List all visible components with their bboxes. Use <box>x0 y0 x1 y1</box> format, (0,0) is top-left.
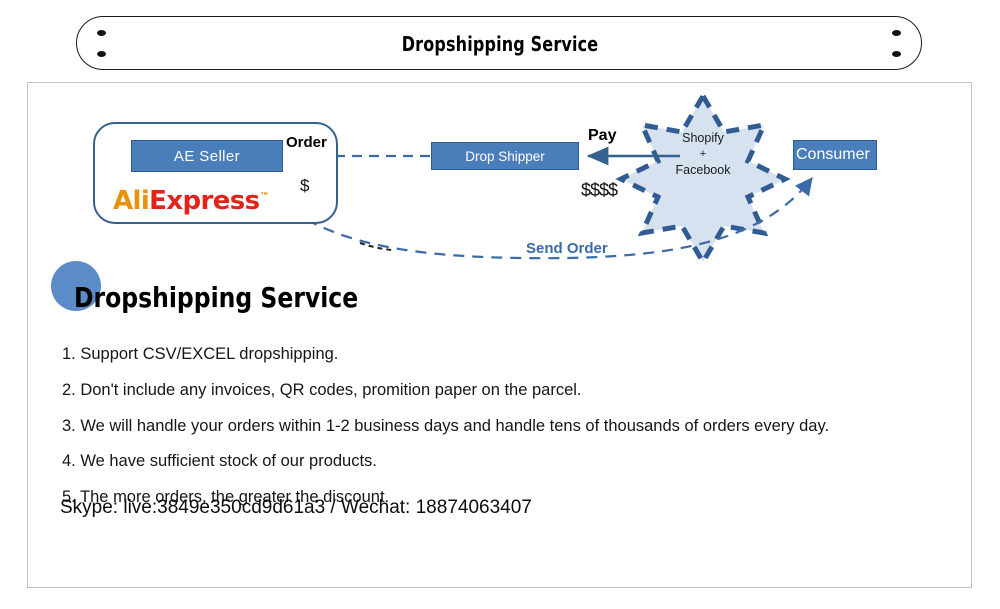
send-order-label: Send Order <box>526 240 608 257</box>
page-root: Dropshipping Service <box>0 0 1000 609</box>
banner-plate: Dropshipping Service <box>76 16 922 70</box>
rivet-icon-bottom-left <box>97 51 106 57</box>
star-label-group: Shopify + Facebook <box>660 130 746 179</box>
list-item: 3. We will handle your orders within 1-2… <box>62 416 962 438</box>
consumer-label: Consumer <box>796 146 870 164</box>
dollars-label: $$$$ <box>581 180 617 201</box>
pay-label: Pay <box>588 127 616 145</box>
list-item: 2. Don't include any invoices, QR codes,… <box>62 380 962 402</box>
drop-shipper-box[interactable]: Drop Shipper <box>431 142 579 170</box>
rivet-icon-top-left <box>97 30 106 36</box>
consumer-box[interactable]: Consumer <box>793 140 877 170</box>
ae-seller-box[interactable]: AE Seller <box>131 140 283 172</box>
contact-line: Skype: live:3849e350cd9d61a3 / Wechat: 1… <box>60 497 532 519</box>
plus-icon: + <box>660 147 746 162</box>
trademark-icon: ™ <box>260 191 269 202</box>
shopify-label: Shopify <box>660 130 746 147</box>
order-label: Order <box>286 134 327 151</box>
rivet-icon-top-right <box>892 30 901 36</box>
facebook-label: Facebook <box>660 162 746 179</box>
brand-ali-text: Ali <box>113 186 149 216</box>
list-item: 1. Support CSV/EXCEL dropshipping. <box>62 344 962 366</box>
rivet-icon-bottom-right <box>892 51 901 57</box>
banner-title: Dropshipping Service <box>162 17 839 71</box>
aliexpress-logo: AliExpress™ <box>113 186 269 216</box>
section-heading: Dropshipping Service <box>74 281 358 314</box>
list-item: 4. We have sufficient stock of our produ… <box>62 451 962 473</box>
drop-shipper-label: Drop Shipper <box>465 149 545 164</box>
dollar-label: $ <box>300 176 309 196</box>
service-list: 1. Support CSV/EXCEL dropshipping. 2. Do… <box>62 344 962 523</box>
ae-seller-label: AE Seller <box>174 148 240 165</box>
brand-express-text: Express <box>149 186 259 216</box>
